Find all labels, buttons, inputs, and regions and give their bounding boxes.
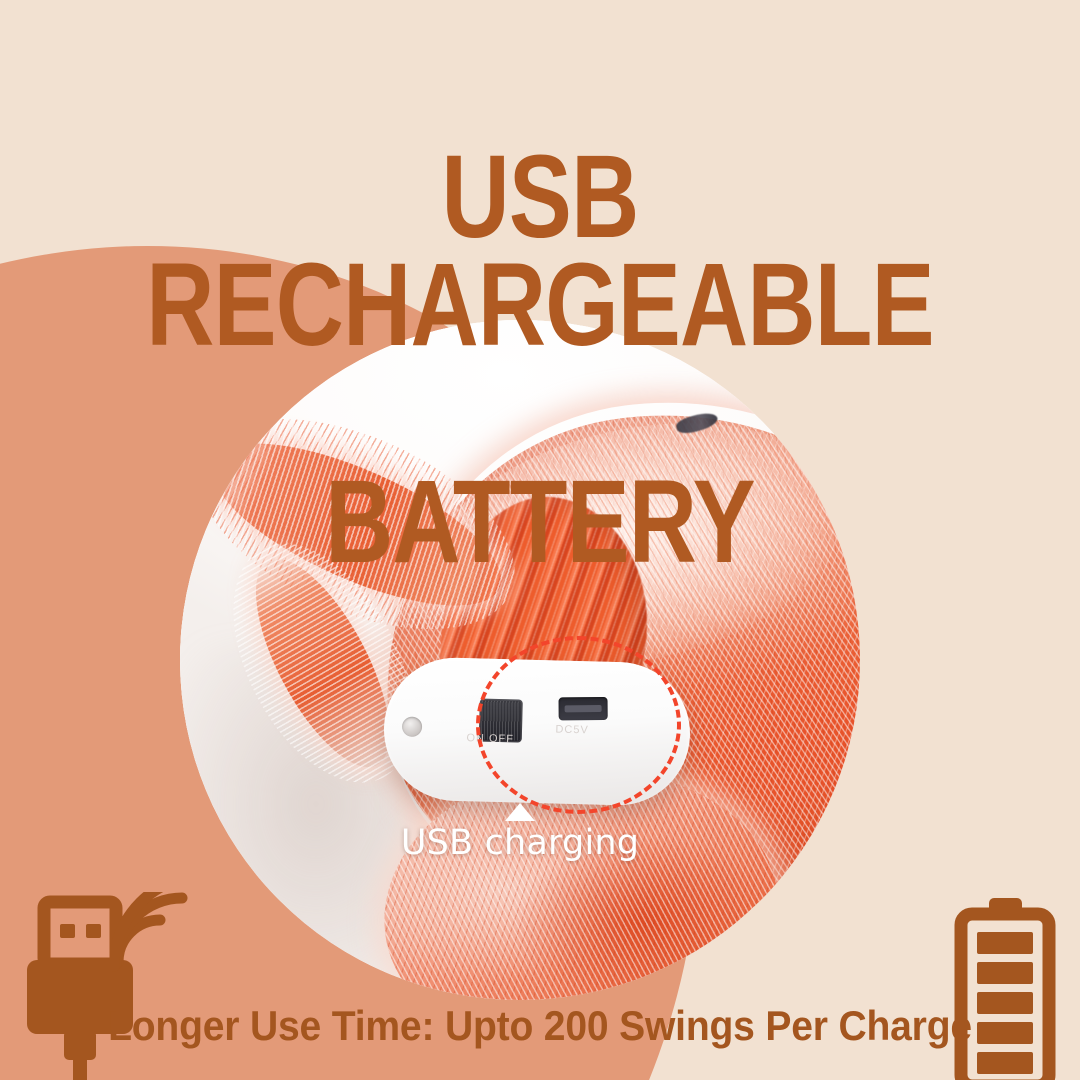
device-screw: [402, 716, 423, 737]
callout-arrow-icon: [505, 803, 535, 821]
page-title-line1: USB RECHARGEABLE: [108, 143, 972, 360]
page-title: USB RECHARGEABLE BATTERY: [108, 34, 972, 685]
page-title-line2: BATTERY: [108, 468, 972, 577]
product-feature-poster: USB RECHARGEABLE BATTERY ON OFF DC5V: [0, 0, 1080, 1080]
usb-charging-callout: USB charging: [180, 803, 860, 863]
signal-waves-icon: [112, 892, 222, 1002]
footer-tagline: Longer Use Time: Upto 200 Swings Per Cha…: [38, 1002, 1042, 1050]
battery-full-icon: [953, 898, 1057, 1080]
callout-label: USB charging: [180, 823, 860, 863]
